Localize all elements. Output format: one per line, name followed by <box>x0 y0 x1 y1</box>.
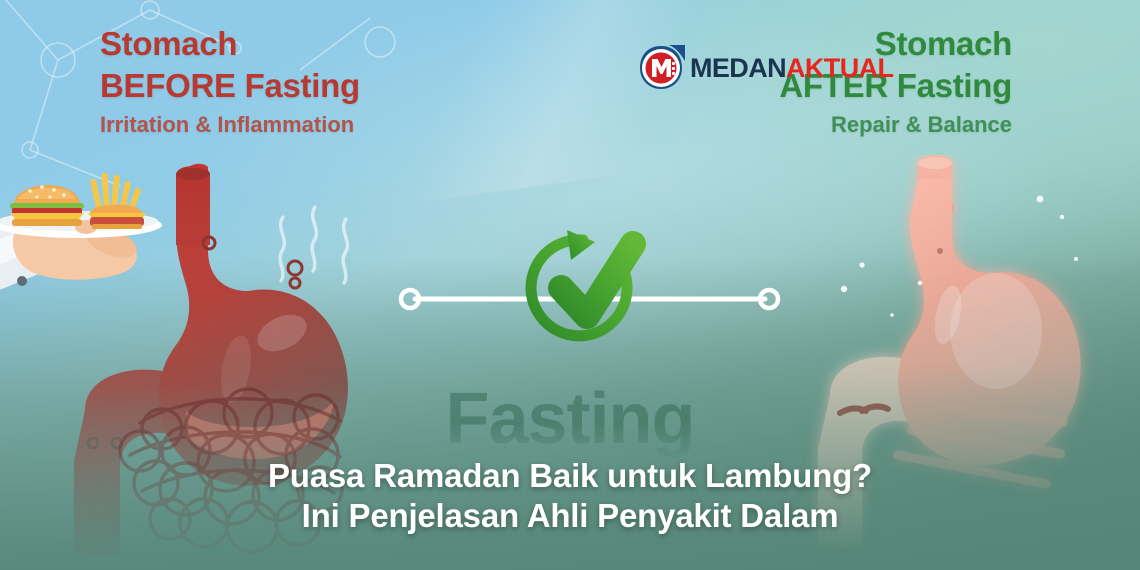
infographic-banner: Fasting Stomach BEFORE Fasting Irritatio… <box>0 0 1140 570</box>
logo-text-medan: MEDAN <box>690 53 786 83</box>
before-fasting-heading: Stomach BEFORE Fasting Irritation & Infl… <box>100 26 360 137</box>
medan-aktual-logo[interactable]: MEDANAKTUAL <box>636 44 893 92</box>
headline: Puasa Ramadan Baik untuk Lambung? Ini Pe… <box>0 456 1140 537</box>
before-heading-line2: BEFORE Fasting <box>100 68 360 104</box>
after-heading-subtitle: Repair & Balance <box>779 113 1012 137</box>
headline-line1: Puasa Ramadan Baik untuk Lambung? <box>0 456 1140 496</box>
before-heading-line1: Stomach <box>100 26 360 62</box>
headline-line2: Ini Penjelasan Ahli Penyakit Dalam <box>0 496 1140 536</box>
medan-aktual-droplet-icon <box>636 44 686 92</box>
before-heading-subtitle: Irritation & Inflammation <box>100 113 360 137</box>
logo-text-aktual: AKTUAL <box>786 53 893 83</box>
hand-with-food <box>0 173 162 293</box>
logo-wordmark: MEDANAKTUAL <box>690 53 893 84</box>
green-check-refresh-icon <box>515 222 665 362</box>
